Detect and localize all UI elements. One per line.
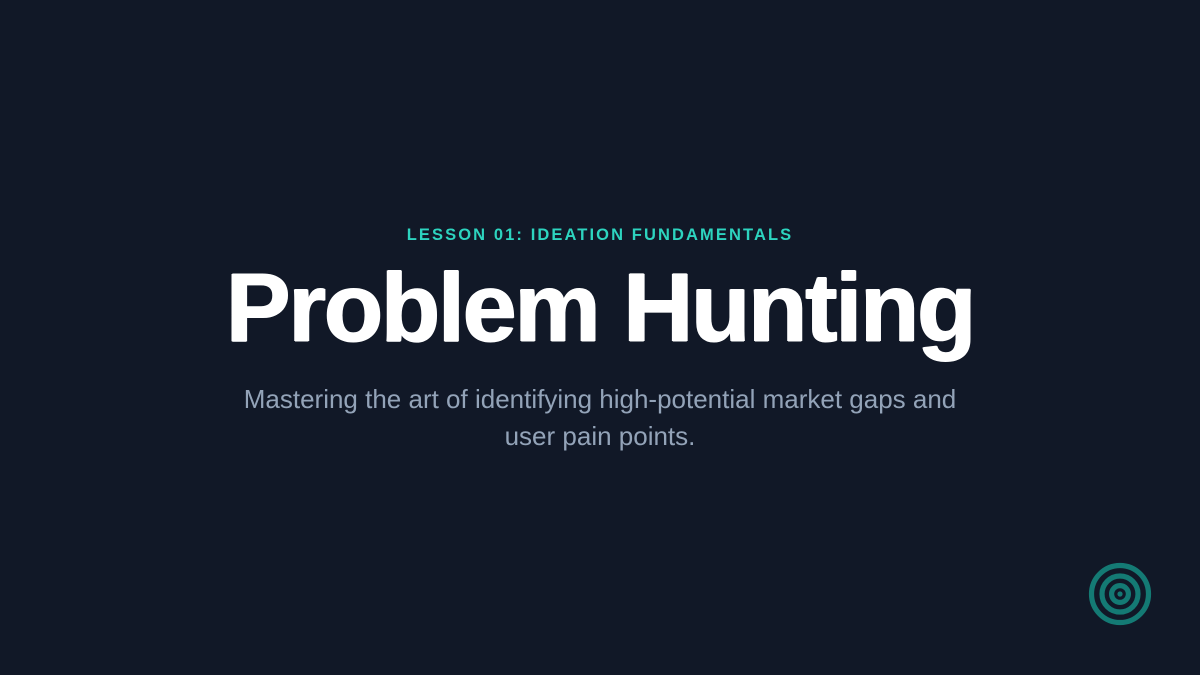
lesson-eyebrow-label: LESSON 01: IDEATION FUNDAMENTALS [407, 226, 794, 244]
slide-subtitle: Mastering the art of identifying high-po… [220, 381, 980, 455]
page-title: Problem Hunting [226, 258, 974, 359]
target-bullseye-icon [1088, 562, 1152, 626]
title-slide: LESSON 01: IDEATION FUNDAMENTALS Problem… [0, 0, 1200, 675]
slide-content: LESSON 01: IDEATION FUNDAMENTALS Problem… [0, 0, 1200, 675]
